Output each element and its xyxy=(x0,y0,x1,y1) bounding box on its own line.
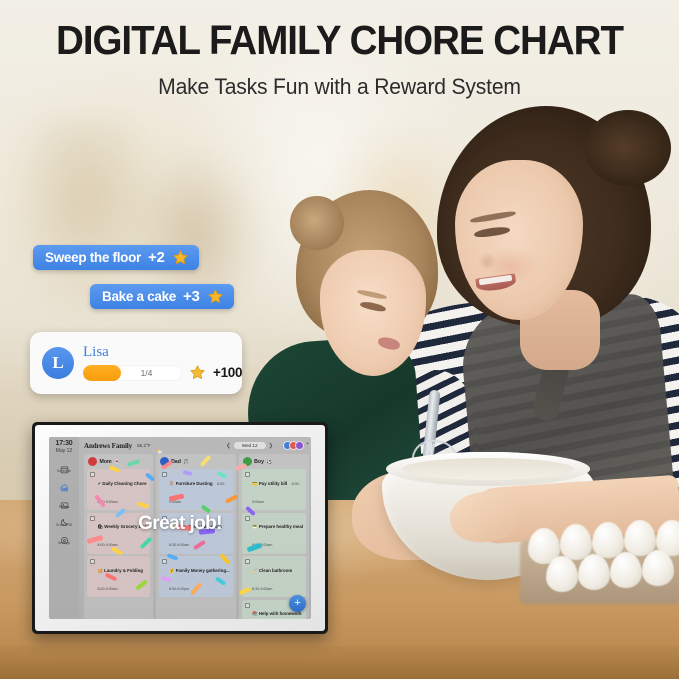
chore-column-mom: Mom 🍷 ✓ Daily Cleaning Chore 8:00-9:00am xyxy=(84,454,153,619)
task-title: 🧺 Laundry & Folding xyxy=(98,568,143,573)
mixing-bowl-contents xyxy=(402,458,574,480)
chevron-left-icon[interactable]: ❮ xyxy=(226,443,231,449)
column-header: Boy ⚽ xyxy=(242,457,306,466)
app-topbar: Andrews Family 65.2°F ❮ Wed 12 ❯ xyxy=(79,437,311,454)
page-subtitle: Make Tasks Fun with a Reward System xyxy=(14,74,666,100)
clock-time: 17:30 xyxy=(56,440,73,448)
avatar xyxy=(88,457,97,466)
task-badge-points: +2 xyxy=(148,249,165,266)
egg xyxy=(610,552,642,588)
tablet-bezel: 17:30 May 12 Schedule To-do xyxy=(35,425,325,631)
sidebar-item-schedule[interactable]: Schedule xyxy=(51,459,77,476)
task-badge-bake-a-cake[interactable]: Bake a cake +3 xyxy=(90,284,234,309)
task-badge-label: Bake a cake xyxy=(102,289,176,304)
poster-heading-block: DIGITAL FAMILY CHORE CHART Make Tasks Fu… xyxy=(0,18,679,100)
date-navigator: ❮ Wed 12 ❯ xyxy=(226,442,273,449)
sidebar-item-label: To-do xyxy=(51,488,77,491)
chore-columns: Mom 🍷 ✓ Daily Cleaning Chore 8:00-9:00am xyxy=(79,454,311,619)
sidebar-item-label: Photos xyxy=(51,506,77,509)
sun-cloud-icon xyxy=(156,442,163,449)
task-title: ✓ Daily Cleaning Chore xyxy=(98,481,147,486)
task-time: 8:00-9:00am xyxy=(98,543,118,547)
task-row[interactable]: 🧹 Clean bathroom 8:30-9:00am xyxy=(242,556,306,597)
column-member-name: Mom xyxy=(100,459,112,465)
family-name: Andrews Family xyxy=(84,442,132,450)
task-title: 🪑 Furniture Dusting xyxy=(169,481,213,486)
task-badge-label: Sweep the floor xyxy=(45,250,141,265)
avatar: L xyxy=(42,347,74,379)
egg xyxy=(546,556,578,592)
task-title: 🧹 Clean bathroom xyxy=(252,568,292,573)
clock-widget: 17:30 May 12 xyxy=(56,440,73,454)
member-progress-row: 1/4 +100 xyxy=(83,364,242,381)
member-avatar-group[interactable]: + xyxy=(283,441,309,450)
avatar-overflow[interactable]: + xyxy=(306,441,309,450)
column-member-name: Dad xyxy=(171,459,181,465)
temperature-reading: 65.2°F xyxy=(137,443,151,448)
tablet-device: 17:30 May 12 Schedule To-do xyxy=(32,422,328,634)
counter-edge xyxy=(0,646,679,679)
chevron-right-icon[interactable]: ❯ xyxy=(269,443,274,449)
task-time: 8:30-9:00am xyxy=(169,543,189,547)
column-member-name: Boy xyxy=(254,459,264,465)
page-title: DIGITAL FAMILY CHORE CHART xyxy=(20,18,658,62)
column-header: Dad 🎵 xyxy=(159,457,233,466)
task-time: 8:30-9:00am xyxy=(252,587,272,591)
tablet-screen: 17:30 May 12 Schedule To-do xyxy=(49,437,311,619)
task-body: 🧺 Laundry & Folding 8:00-9:00am xyxy=(98,559,147,595)
sidebar-item-photos[interactable]: Photos xyxy=(51,495,77,512)
task-time: 8:00-9:00am xyxy=(98,587,118,591)
member-name: Lisa xyxy=(83,345,242,360)
task-title: 📚 Help with homework xyxy=(252,611,301,616)
avatar xyxy=(160,457,169,466)
task-body: ✓ Daily Cleaning Chore 8:00-9:00am xyxy=(98,472,147,508)
task-title: 💰 Family Money gathering... xyxy=(169,568,230,573)
add-task-button[interactable]: + xyxy=(289,595,306,612)
task-checkbox[interactable] xyxy=(245,603,250,608)
poster-root: DIGITAL FAMILY CHORE CHART Make Tasks Fu… xyxy=(0,0,679,679)
task-checkbox[interactable] xyxy=(245,472,250,477)
sidebar-item-label: Settings xyxy=(51,542,77,545)
progress-bar-label: 1/4 xyxy=(83,365,182,381)
clock-date: May 12 xyxy=(56,448,73,454)
woman-hair-bun xyxy=(585,110,671,186)
member-progress-card[interactable]: L Lisa 1/4 +100 xyxy=(30,332,242,394)
column-header: Mom 🍷 xyxy=(87,457,150,466)
current-date-pill[interactable]: Wed 12 xyxy=(234,442,266,449)
star-icon xyxy=(207,288,224,305)
task-row[interactable]: ✓ Daily Cleaning Chore 8:00-9:00am xyxy=(87,469,150,510)
star-icon xyxy=(189,364,206,381)
sidebar-item-to-do[interactable]: To-do xyxy=(51,477,77,494)
task-body: 💰 Family Money gathering... 8:00-9:00pm xyxy=(169,559,230,595)
avatar xyxy=(243,457,252,466)
task-row[interactable]: 💰 Family Money gathering... 8:00-9:00pm xyxy=(159,556,233,597)
task-title: 💳 Pay utility bill xyxy=(252,481,287,486)
task-checkbox[interactable] xyxy=(90,472,95,477)
task-row[interactable]: 💳 Pay utility bill 8:00-9:00am xyxy=(242,469,306,510)
girl-hair-bun xyxy=(290,196,344,250)
member-emoji-icon: 🎵 xyxy=(183,459,189,465)
task-body: 🧹 Clean bathroom 8:30-9:00am xyxy=(252,559,303,595)
egg xyxy=(578,554,610,590)
member-card-body: Lisa 1/4 +100 xyxy=(83,345,242,381)
task-badge-sweep-the-floor[interactable]: Sweep the floor +2 xyxy=(33,245,199,270)
woman-nose xyxy=(478,252,496,268)
task-body: 🪑 Furniture Dusting 8:00-9:00am xyxy=(169,472,230,508)
celebration-message: Great job! xyxy=(49,513,311,535)
task-row[interactable]: 🧺 Laundry & Folding 8:00-9:00am xyxy=(87,556,150,597)
task-body: 💳 Pay utility bill 8:00-9:00am xyxy=(252,472,303,508)
task-checkbox[interactable] xyxy=(162,472,167,477)
sidebar-item-label: Schedule xyxy=(51,470,77,473)
member-emoji-icon: ⚽ xyxy=(266,459,272,465)
task-badge-points: +3 xyxy=(183,288,200,305)
task-checkbox[interactable] xyxy=(162,559,167,564)
task-row[interactable]: 🪑 Furniture Dusting 8:00-9:00am xyxy=(159,469,233,510)
avatar[interactable] xyxy=(295,441,304,450)
member-emoji-icon: 🍷 xyxy=(114,459,120,465)
progress-bar: 1/4 xyxy=(83,365,182,381)
task-checkbox[interactable] xyxy=(245,559,250,564)
task-time: 8:00-9:00am xyxy=(252,543,272,547)
star-icon xyxy=(172,249,189,266)
reward-points: +100 xyxy=(213,365,242,380)
task-time: 8:00-9:00pm xyxy=(169,587,189,591)
egg xyxy=(642,550,674,586)
task-time: 8:00-9:00am xyxy=(98,500,118,504)
chore-column-dad: Dad 🎵 🪑 Furniture Dusting 8:00-9:00am xyxy=(156,454,236,619)
task-checkbox[interactable] xyxy=(90,559,95,564)
